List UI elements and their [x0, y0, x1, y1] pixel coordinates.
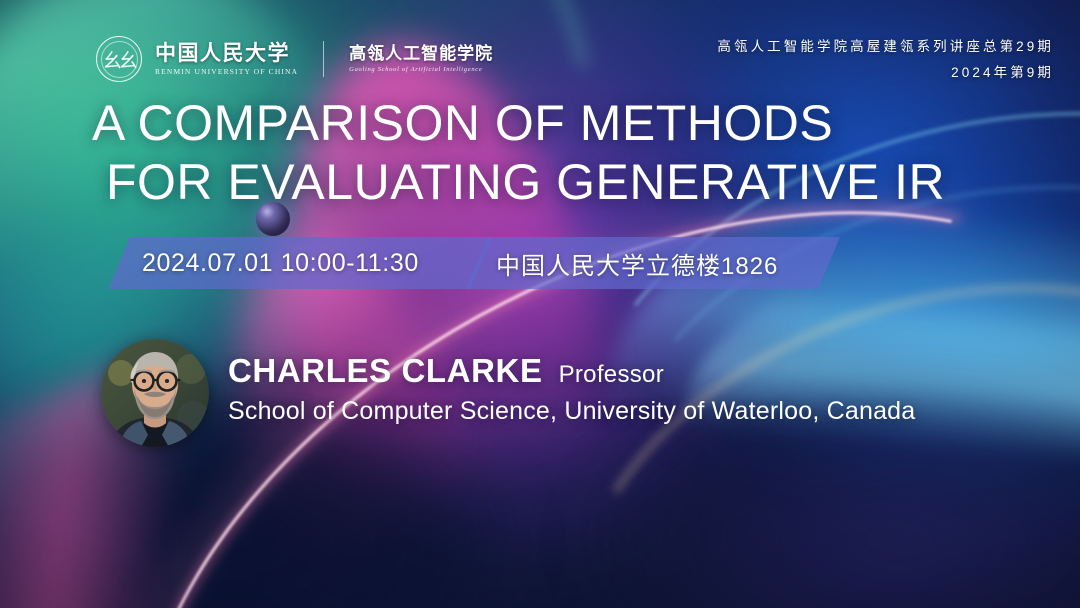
- speaker-portrait: [101, 339, 209, 447]
- venue-text: 中国人民大学立德楼1826: [496, 246, 778, 281]
- school-name-block: 高瓴人工智能学院 Gaoling School of Artificial In…: [349, 45, 493, 74]
- datetime-text: 2024.07.01 10:00-11:30: [142, 249, 419, 278]
- school-name-en: Gaoling School of Artificial Intelligenc…: [349, 66, 493, 73]
- series-line-1: 高瓴人工智能学院高屋建瓴系列讲座总第29期: [717, 34, 1054, 60]
- logo-divider: [323, 41, 324, 77]
- seal-glyph: ⼳⼳: [97, 37, 141, 81]
- speaker-name-row: CHARLES CLARKE Professor: [228, 352, 915, 390]
- poster-content: ⼳⼳ 中国人民大学 RENMIN UNIVERSITY OF CHINA 高瓴人…: [0, 0, 1080, 608]
- university-name-block: 中国人民大学 RENMIN UNIVERSITY OF CHINA: [155, 42, 298, 76]
- title-line-1: A COMPARISON OF METHODS: [92, 95, 833, 151]
- school-name-cn: 高瓴人工智能学院: [349, 45, 493, 63]
- lecture-poster: ⼳⼳ 中国人民大学 RENMIN UNIVERSITY OF CHINA 高瓴人…: [0, 0, 1080, 608]
- speaker-info: CHARLES CLARKE Professor School of Compu…: [228, 352, 915, 426]
- lecture-title: A COMPARISON OF METHODS FOR EVALUATING G…: [92, 94, 1032, 212]
- university-name-cn: 中国人民大学: [155, 42, 298, 64]
- series-line-2: 2024年第9期: [717, 60, 1054, 86]
- university-name-en: RENMIN UNIVERSITY OF CHINA: [155, 67, 298, 76]
- datetime-banner: 2024.07.01 10:00-11:30: [108, 237, 492, 289]
- speaker-name: CHARLES CLARKE: [228, 352, 543, 390]
- title-line-2: FOR EVALUATING GENERATIVE IR: [92, 153, 1032, 212]
- speaker-title: Professor: [559, 361, 664, 389]
- venue-banner: 中国人民大学立德楼1826: [466, 237, 840, 289]
- university-seal-icon: ⼳⼳: [96, 36, 142, 82]
- speaker-affiliation: School of Computer Science, University o…: [228, 397, 915, 426]
- event-details-bar: 2024.07.01 10:00-11:30 中国人民大学立德楼1826: [0, 237, 1080, 289]
- lecture-series-info: 高瓴人工智能学院高屋建瓴系列讲座总第29期 2024年第9期: [717, 34, 1054, 85]
- institution-logo: ⼳⼳ 中国人民大学 RENMIN UNIVERSITY OF CHINA 高瓴人…: [96, 36, 493, 82]
